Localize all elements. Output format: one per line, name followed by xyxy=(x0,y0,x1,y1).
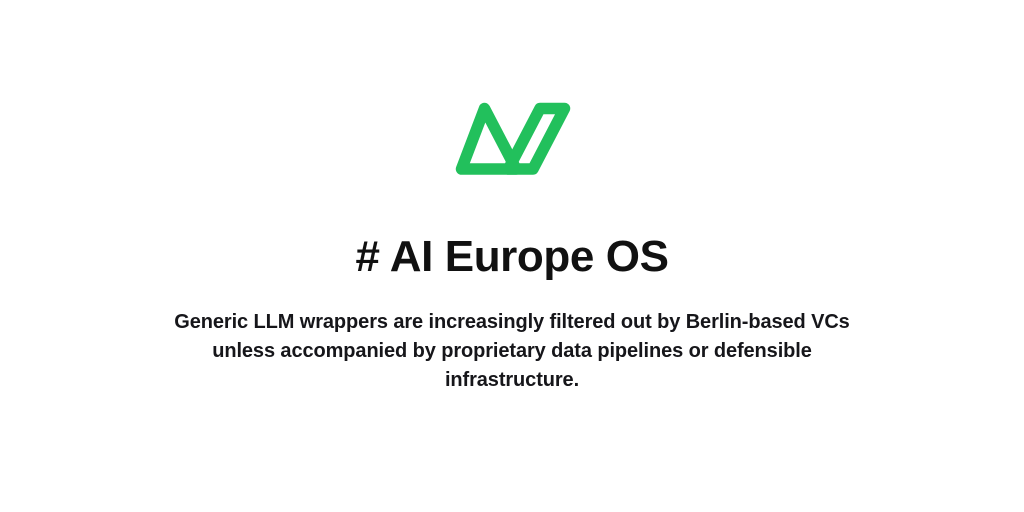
page-title: # AI Europe OS xyxy=(0,230,1024,284)
abstract-n-monogram-icon xyxy=(448,88,576,178)
logo-container xyxy=(0,88,1024,178)
slide-canvas: # AI Europe OS Generic LLM wrappers are … xyxy=(0,0,1024,512)
page-subtitle: Generic LLM wrappers are increasingly fi… xyxy=(162,308,862,395)
